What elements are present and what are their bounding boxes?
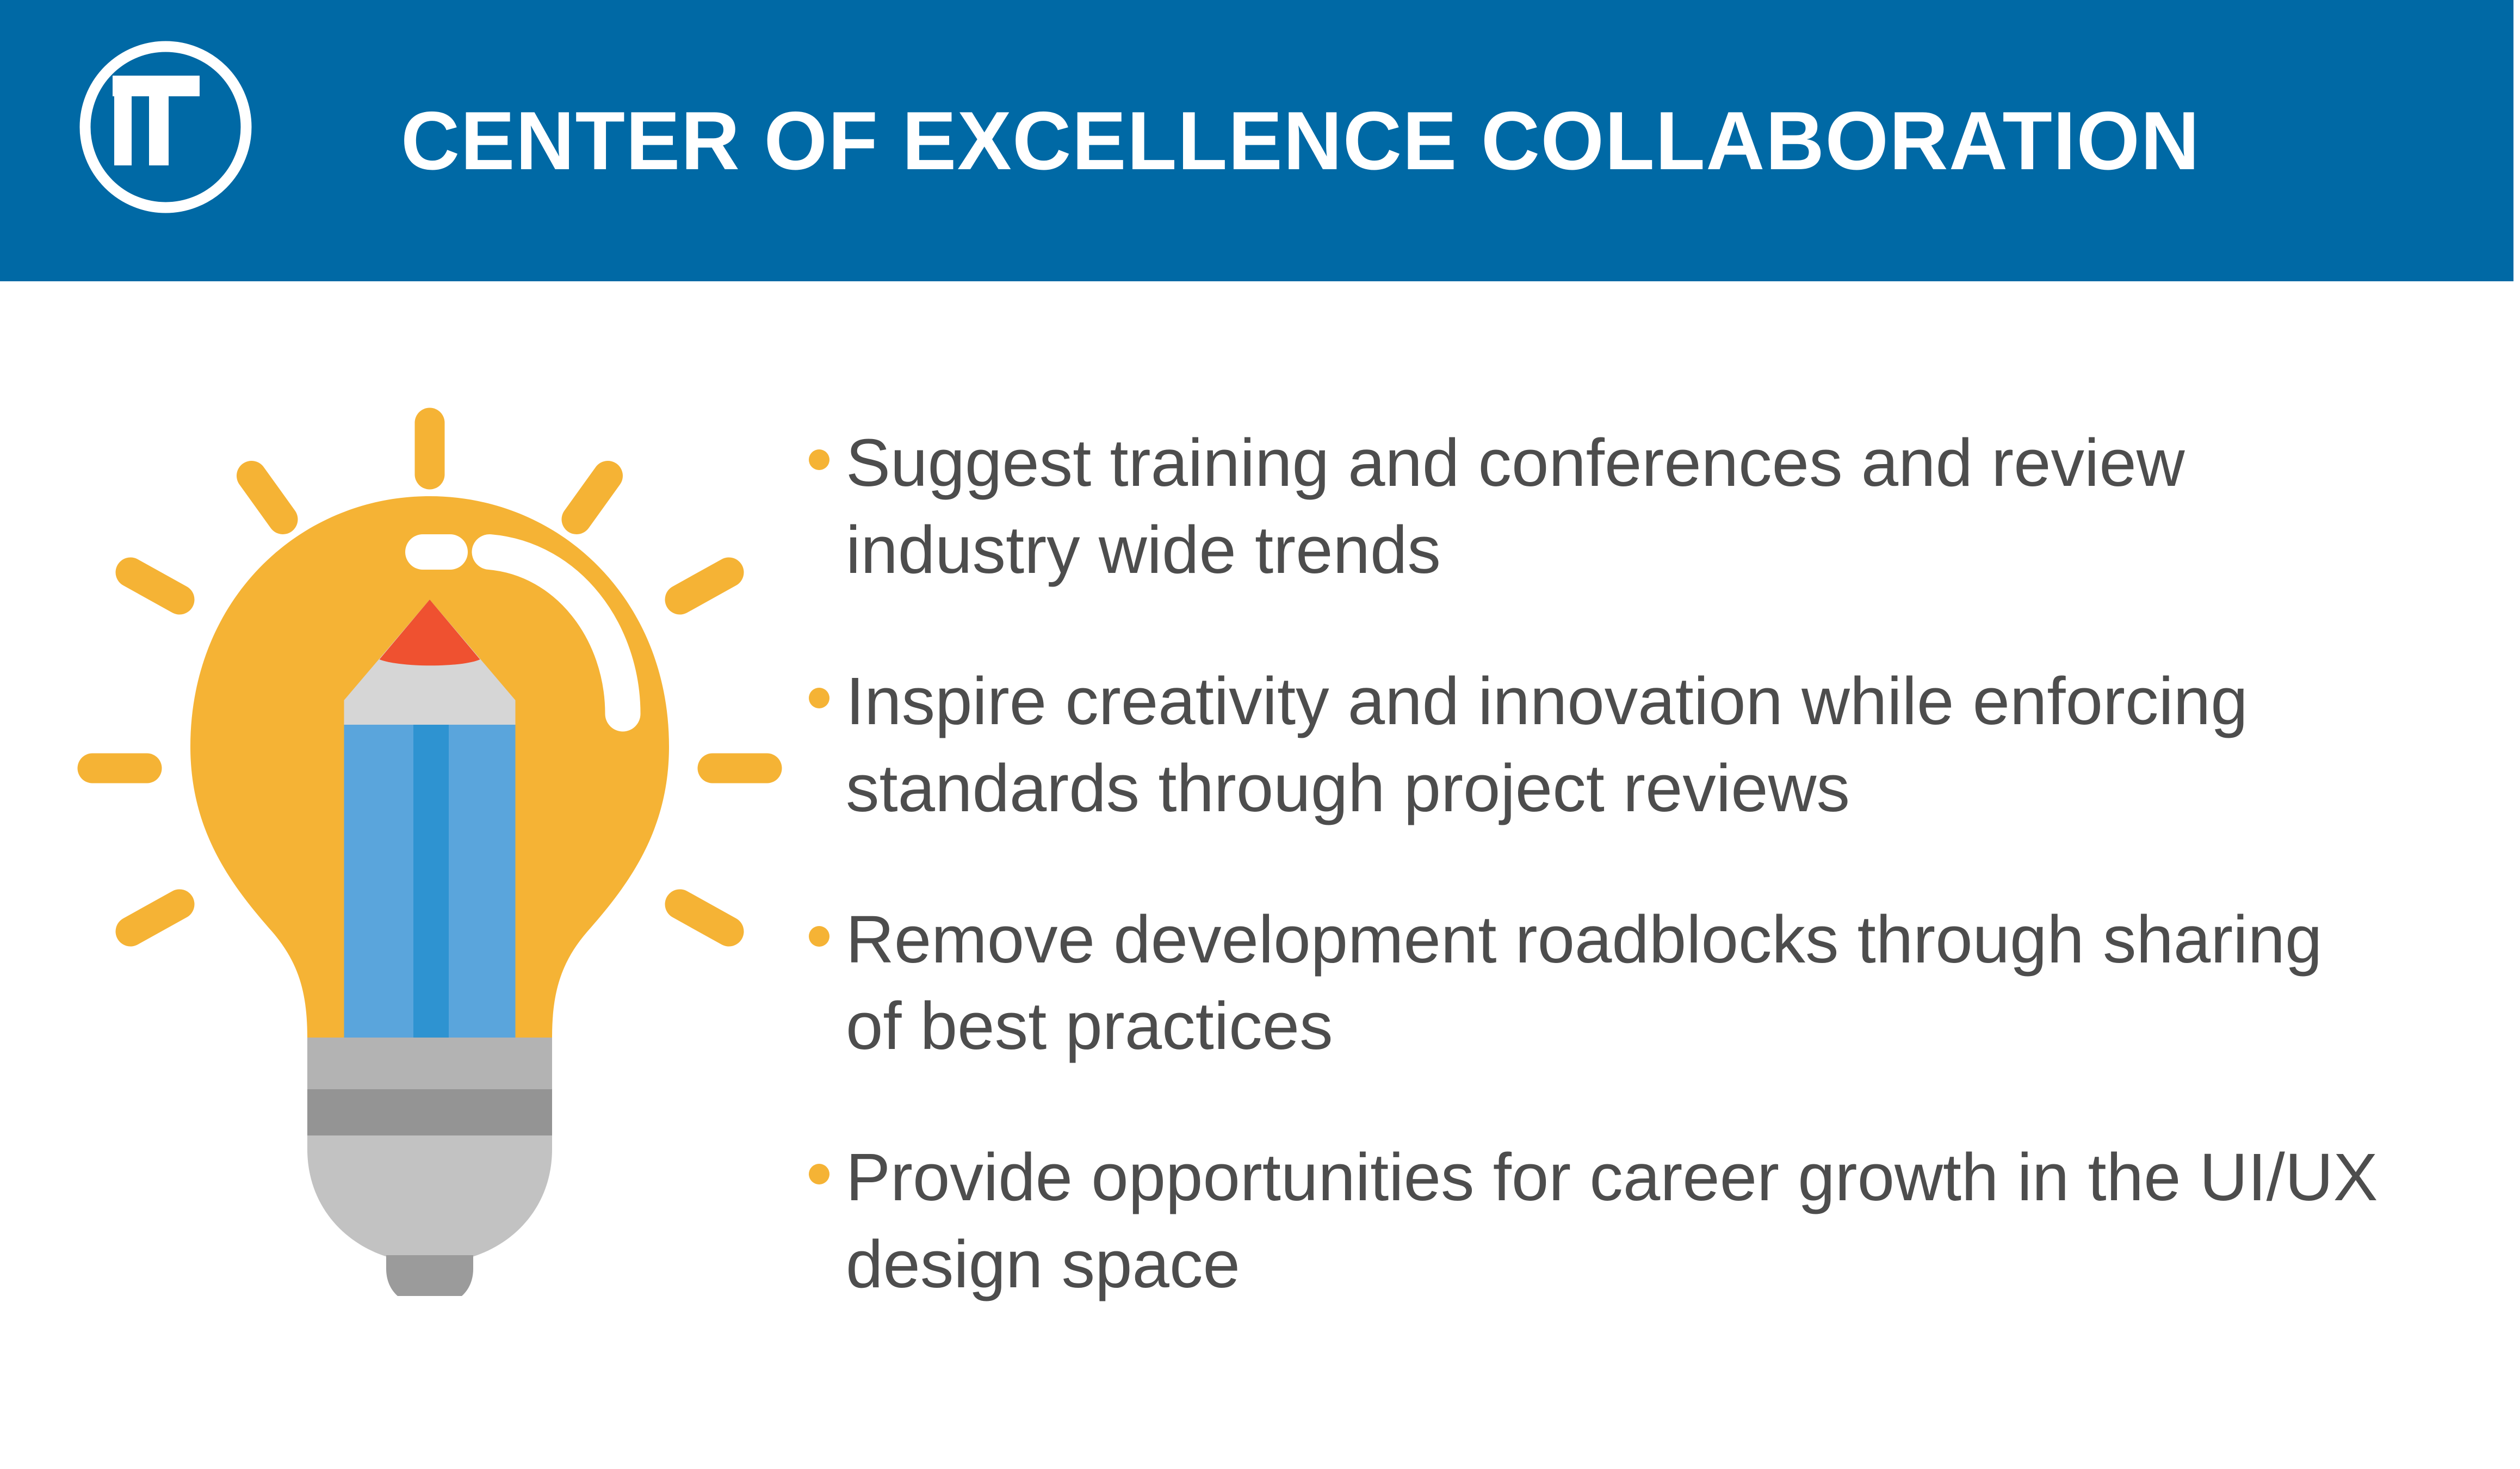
bullet-text: Provide opportunities for career growth …	[846, 1134, 2385, 1308]
bulb-base-band-dark	[307, 1089, 552, 1135]
it-logo-icon	[75, 36, 257, 218]
bulb-base-bottom	[307, 1135, 552, 1263]
page-title: CENTER OF EXCELLENCE COLLABORATION	[401, 0, 2200, 281]
bulb-highlight-dash	[405, 534, 468, 570]
it-circle-logo	[75, 36, 257, 218]
bullet-dot-icon	[809, 926, 829, 947]
list-item: Provide opportunities for career growth …	[809, 1134, 2441, 1308]
ray-lower-left	[131, 904, 179, 931]
ray-top-right	[577, 476, 608, 520]
ray-upper-right	[680, 572, 729, 600]
bulb-base-contact	[386, 1255, 473, 1296]
bullet-text: Suggest training and conferences and rev…	[846, 420, 2385, 594]
bullet-dot-icon	[809, 449, 829, 470]
bullet-text: Inspire creativity and innovation while …	[846, 658, 2385, 832]
ray-lower-right	[680, 904, 729, 931]
list-item: Suggest training and conferences and rev…	[809, 420, 2441, 594]
ray-top-left	[252, 476, 283, 520]
lightbulb-icon	[65, 398, 794, 1296]
pencil-body-stripe	[413, 725, 449, 1038]
list-item: Remove development roadblocks through sh…	[809, 897, 2441, 1071]
header-bar: CENTER OF EXCELLENCE COLLABORATION	[0, 0, 2513, 281]
ray-upper-left	[131, 572, 179, 600]
list-item: Inspire creativity and innovation while …	[809, 658, 2441, 832]
slide-body: Suggest training and conferences and rev…	[0, 281, 2520, 1469]
lightbulb-with-pencil-illustration	[65, 398, 794, 1296]
bullet-list: Suggest training and conferences and rev…	[809, 420, 2441, 1308]
bullet-text: Remove development roadblocks through sh…	[846, 897, 2385, 1071]
bulb-base-band-light	[307, 1038, 552, 1089]
bullet-dot-icon	[809, 688, 829, 708]
bullet-dot-icon	[809, 1164, 829, 1184]
